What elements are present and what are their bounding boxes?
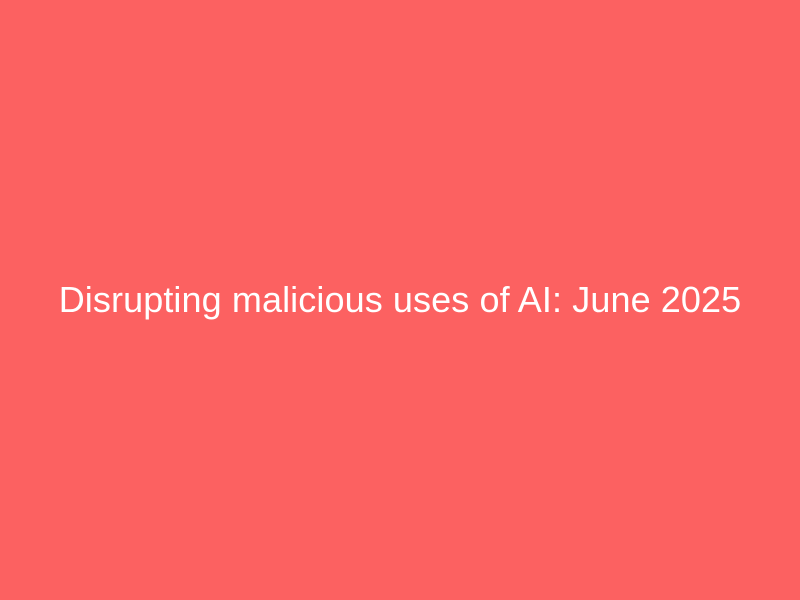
page-title: Disrupting malicious uses of AI: June 20…: [59, 278, 742, 321]
banner-placeholder: Disrupting malicious uses of AI: June 20…: [0, 0, 800, 600]
